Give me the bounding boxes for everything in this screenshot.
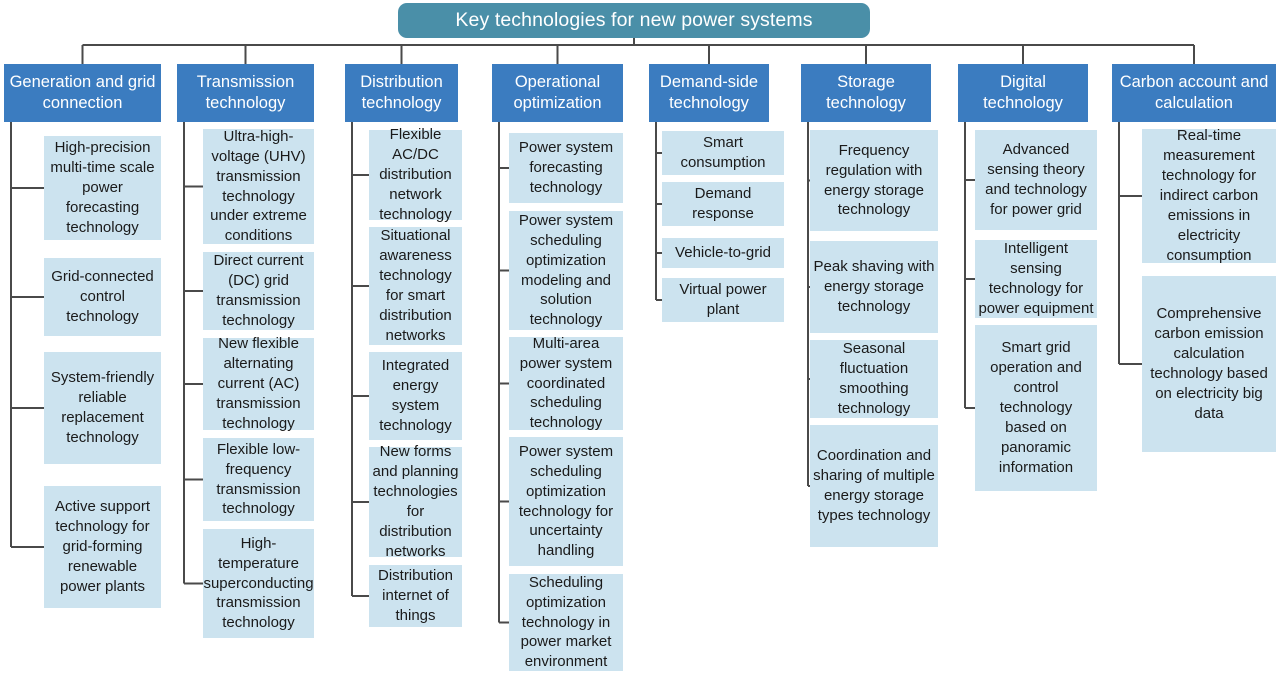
leaf-node[interactable]: Flexible AC/DC distribution network tech… bbox=[369, 130, 462, 220]
leaf-node[interactable]: Virtual power plant bbox=[662, 278, 784, 322]
diagram-canvas: Key technologies for new power systems G… bbox=[0, 0, 1280, 677]
leaf-node[interactable]: Situational awareness technology for sma… bbox=[369, 227, 462, 345]
leaf-node[interactable]: Integrated energy system technology bbox=[369, 352, 462, 440]
leaf-node[interactable]: Power system scheduling optimization mod… bbox=[509, 211, 623, 330]
branch-header[interactable]: Storage technology bbox=[801, 64, 931, 122]
leaf-node[interactable]: Real-time measurement technology for ind… bbox=[1142, 129, 1276, 263]
leaf-node[interactable]: Active support technology for grid-formi… bbox=[44, 486, 161, 608]
leaf-node[interactable]: Grid-connected control technology bbox=[44, 258, 161, 336]
leaf-node[interactable]: Seasonal fluctuation smoothing technolog… bbox=[810, 340, 938, 418]
leaf-node[interactable]: High-precision multi-time scale power fo… bbox=[44, 136, 161, 240]
branch-header[interactable]: Carbon account and calculation bbox=[1112, 64, 1276, 122]
leaf-node[interactable]: Flexible low-frequency transmission tech… bbox=[203, 438, 314, 521]
leaf-node[interactable]: New flexible alternating current (AC) tr… bbox=[203, 338, 314, 430]
leaf-node[interactable]: System-friendly reliable replacement tec… bbox=[44, 352, 161, 464]
leaf-node[interactable]: Scheduling optimization technology in po… bbox=[509, 574, 623, 671]
branch-header[interactable]: Operational optimization bbox=[492, 64, 623, 122]
branch-header[interactable]: Distribution technology bbox=[345, 64, 458, 122]
leaf-node[interactable]: New forms and planning technologies for … bbox=[369, 447, 462, 557]
leaf-node[interactable]: Smart grid operation and control technol… bbox=[975, 325, 1097, 491]
leaf-node[interactable]: Comprehensive carbon emission calculatio… bbox=[1142, 276, 1276, 452]
leaf-node[interactable]: Coordination and sharing of multiple ene… bbox=[810, 425, 938, 547]
leaf-node[interactable]: Advanced sensing theory and technology f… bbox=[975, 130, 1097, 230]
leaf-node[interactable]: Power system forecasting technology bbox=[509, 133, 623, 203]
leaf-node[interactable]: Direct current (DC) grid transmission te… bbox=[203, 252, 314, 330]
root-node-title: Key technologies for new power systems bbox=[398, 3, 870, 38]
branch-header[interactable]: Transmission technology bbox=[177, 64, 314, 122]
branch-header[interactable]: Digital technology bbox=[958, 64, 1088, 122]
leaf-node[interactable]: Vehicle-to-grid bbox=[662, 238, 784, 268]
leaf-node[interactable]: Intelligent sensing technology for power… bbox=[975, 240, 1097, 318]
leaf-node[interactable]: Distribution internet of things bbox=[369, 565, 462, 627]
branch-header[interactable]: Demand-side technology bbox=[649, 64, 769, 122]
leaf-node[interactable]: Ultra-high-voltage (UHV) transmission te… bbox=[203, 129, 314, 244]
branch-header[interactable]: Generation and grid connection bbox=[4, 64, 161, 122]
leaf-node[interactable]: Smart consumption bbox=[662, 131, 784, 175]
leaf-node[interactable]: Multi-area power system coordinated sche… bbox=[509, 337, 623, 430]
leaf-node[interactable]: Power system scheduling optimization tec… bbox=[509, 437, 623, 566]
leaf-node[interactable]: High-temperature superconducting transmi… bbox=[203, 529, 314, 638]
leaf-node[interactable]: Demand response bbox=[662, 182, 784, 226]
leaf-node[interactable]: Peak shaving with energy storage technol… bbox=[810, 241, 938, 333]
leaf-node[interactable]: Frequency regulation with energy storage… bbox=[810, 130, 938, 231]
